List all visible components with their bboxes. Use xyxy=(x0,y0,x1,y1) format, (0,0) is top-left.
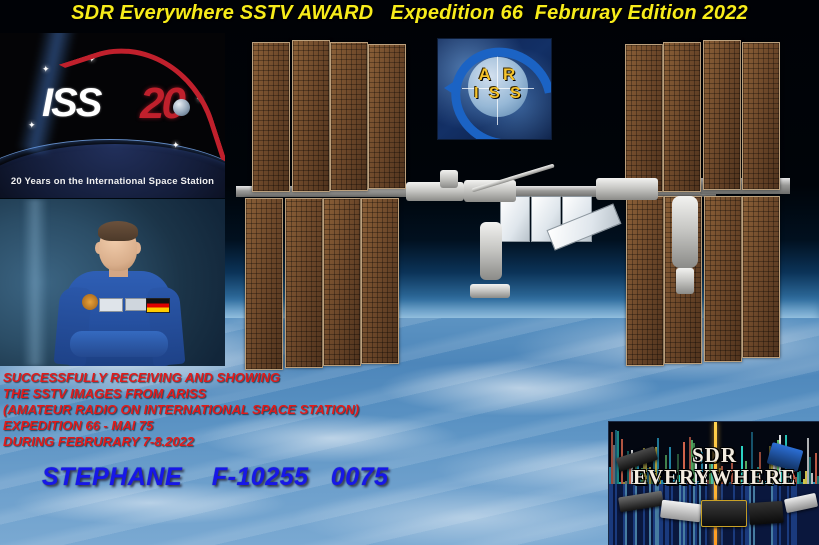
iss-solar-array xyxy=(704,196,742,362)
star-icon: ✦ xyxy=(42,65,50,74)
ariss-logo: A R I S S xyxy=(437,38,552,140)
iss-service-module xyxy=(672,196,698,268)
agency-patch xyxy=(125,298,147,311)
iss-radiator xyxy=(500,196,530,242)
iss-solar-array xyxy=(663,42,701,192)
sdr-receiver-icon xyxy=(701,500,747,527)
astronaut-portrait xyxy=(0,199,225,366)
astronaut-hair xyxy=(98,221,138,241)
ariss-wordmark-iss: I S S xyxy=(469,85,529,140)
sdr-receiver-icon xyxy=(748,501,783,525)
iss-solar-array xyxy=(703,40,741,190)
iss-solar-array xyxy=(742,196,780,358)
citation-line: THE SSTV IMAGES FROM ARISS xyxy=(3,386,359,402)
iss-solar-array xyxy=(368,44,406,189)
iss20-logo: ✦ ✦ ✦ ✦ ✦ ISS 20 20 Years on the Interna… xyxy=(0,33,225,198)
sdr-logo-line2: EVERYWHERE xyxy=(633,465,796,489)
citation-line: DURING FEBRURARY 7-8.2022 xyxy=(3,434,359,450)
name-tag-patch xyxy=(99,298,123,312)
iss-solar-array xyxy=(285,198,323,368)
iss-solar-array xyxy=(742,42,780,190)
astronaut-folded-arms xyxy=(70,331,168,357)
iss-solar-array xyxy=(626,196,664,366)
german-flag-icon xyxy=(146,298,170,313)
sdr-logo-text: SDREVERYWHERE xyxy=(609,444,819,488)
iss-solar-array xyxy=(361,198,399,364)
recipient-line: STEPHANE F-10255 0075 xyxy=(42,463,388,492)
iss20-wordmark-iss: ISS xyxy=(42,81,100,126)
iss-solar-array xyxy=(323,198,361,366)
iss-soyuz xyxy=(676,268,694,294)
sstv-award-card: SDR Everywhere SSTV AWARD Expedition 66 … xyxy=(0,0,819,545)
iss-docked-vehicle xyxy=(470,284,510,298)
citation-line: SUCCESSFULLY RECEIVING AND SHOWING xyxy=(3,370,359,386)
sdr-everywhere-logo: SDREVERYWHERE xyxy=(608,421,819,545)
backdrop-highlight xyxy=(22,199,48,366)
iss-module xyxy=(440,170,458,188)
iss20-caption: 20 Years on the International Space Stat… xyxy=(0,176,225,187)
citation-line: (AMATEUR RADIO ON INTERNATIONAL SPACE ST… xyxy=(3,402,359,418)
sdr-logo-line1: SDR xyxy=(692,443,737,467)
mission-patch-icon xyxy=(82,294,98,310)
ariss-wordmark-ar: A R xyxy=(469,65,529,85)
page-title: SDR Everywhere SSTV AWARD Expedition 66 … xyxy=(0,2,819,25)
iss20-globe-icon xyxy=(173,99,190,116)
iss-solar-array xyxy=(330,42,368,191)
iss-solar-array xyxy=(252,42,290,192)
citation-text: SUCCESSFULLY RECEIVING AND SHOWING THE S… xyxy=(3,370,359,450)
iss-solar-array xyxy=(625,44,663,192)
star-icon: ✦ xyxy=(28,121,36,130)
iss-solar-array xyxy=(292,40,330,192)
iss-module xyxy=(596,178,658,200)
iss-docked-vehicle xyxy=(480,222,502,280)
citation-line: EXPEDITION 66 - MAI 75 xyxy=(3,418,359,434)
iss-solar-array xyxy=(245,198,283,370)
ariss-arrowhead-icon xyxy=(444,79,458,97)
